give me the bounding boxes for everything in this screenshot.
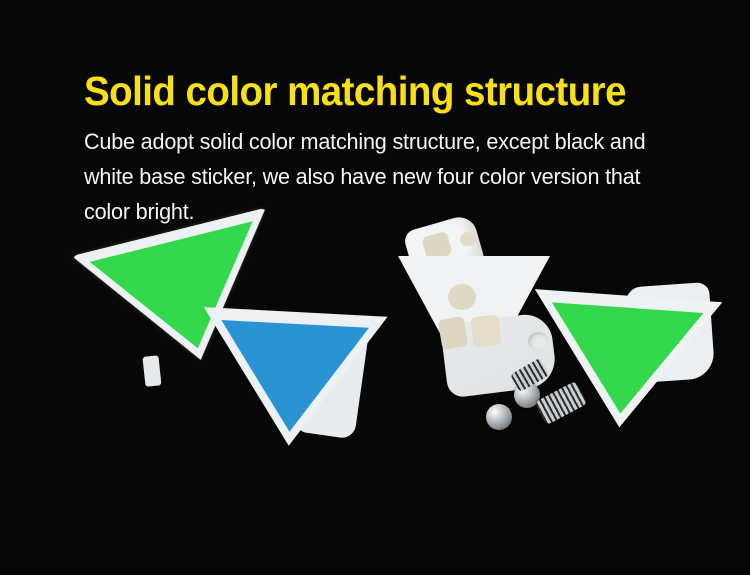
page-title: Solid color matching structure [84,68,648,114]
piece-body [196,301,394,466]
copy-block: Solid color matching structure Cube adop… [84,68,684,229]
piece-blue-corner [200,306,390,461]
green-sticker-face [545,302,704,418]
plastic-tab [142,355,161,387]
blue-sticker-face [216,320,369,436]
piece-right-green-corner [530,276,730,446]
description-text: Cube adopt solid color matching structur… [84,124,660,229]
internal-cavity [448,284,476,310]
internal-cavity [438,316,469,350]
product-photo [0,218,750,488]
piece-body [524,269,735,453]
ball-bearing [486,404,512,430]
internal-cavity [471,315,502,348]
product-banner: Solid color matching structure Cube adop… [0,0,750,575]
